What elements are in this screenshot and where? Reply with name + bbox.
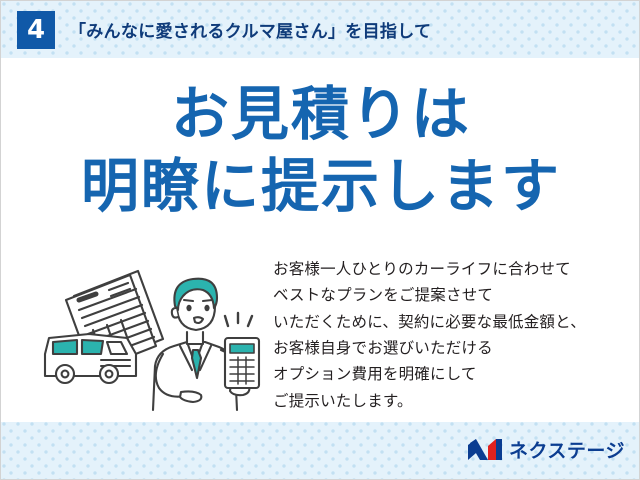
body-copy-line: お客様自身でお選びいただける [273, 335, 633, 361]
sparkle-icon [225, 313, 252, 326]
body-copy-line: いただくために、契約に必要な最低金額と、 [273, 309, 633, 335]
nextage-n-mark-icon [468, 438, 502, 461]
body-copy-line: オプション費用を明確にして [273, 361, 633, 387]
header-title: 「みんなに愛されるクルマ屋さん」を目指して [69, 17, 431, 42]
footer-band: ネクステージ [1, 420, 640, 479]
headline: お見積りは 明瞭に提示します [1, 80, 640, 221]
calculator-icon [225, 338, 259, 388]
header-band: 4 「みんなに愛されるクルマ屋さん」を目指して [1, 1, 640, 58]
step-number-badge: 4 [17, 11, 55, 49]
body-copy-line: ご提示いたします。 [273, 388, 633, 414]
body-copy-line: ベストなプランをご提案させて [273, 282, 633, 308]
promo-card: 4 「みんなに愛されるクルマ屋さん」を目指して お見積りは 明瞭に提示します お… [0, 0, 640, 480]
body-copy: お客様一人ひとりのカーライフに合わせて ベストなプランをご提案させて いただくた… [273, 256, 633, 414]
nextage-logo: ネクステージ [468, 436, 625, 463]
van-illustration [45, 334, 136, 383]
headline-line-1: お見積りは [1, 80, 640, 148]
body-copy-line: お客様一人ひとりのカーライフに合わせて [273, 256, 633, 282]
headline-line-2: 明瞭に提示します [1, 152, 640, 220]
brand-name: ネクステージ [509, 436, 625, 463]
content-panel: お見積りは 明瞭に提示します お客様一人ひとりのカーライフに合わせて ベストなプ… [1, 58, 640, 422]
sales-staff-illustration [35, 254, 271, 414]
